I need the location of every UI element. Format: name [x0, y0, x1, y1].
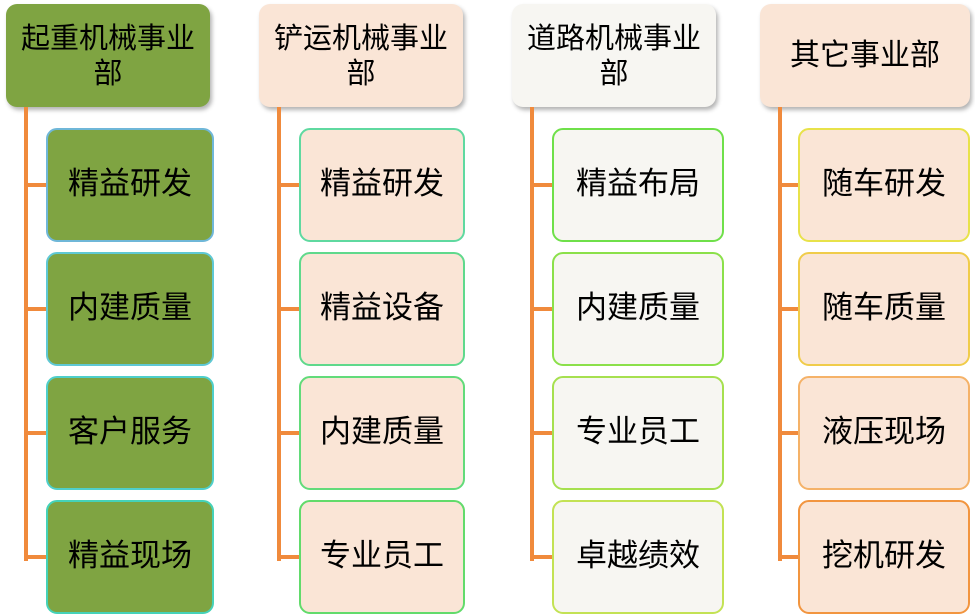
- initiative-node-label: 卓越绩效: [576, 539, 700, 575]
- initiative-node-label: 随车质量: [822, 291, 946, 327]
- org-chart-diagram: 起重机械事业部精益研发内建质量客户服务精益现场铲运机械事业部精益研发精益设备内建…: [0, 0, 975, 609]
- department-header-4[interactable]: 其它事业部: [760, 4, 970, 107]
- initiative-node-3-4[interactable]: 卓越绩效: [552, 500, 724, 614]
- department-header-label: 起重机械事业部: [12, 21, 204, 89]
- department-header-label: 其它事业部: [790, 38, 940, 73]
- connector-branch-1-3: [24, 431, 48, 435]
- initiative-node-label: 精益设备: [320, 291, 444, 327]
- initiative-node-label: 液压现场: [822, 415, 946, 451]
- connector-branch-2-4: [277, 555, 301, 559]
- initiative-node-label: 内建质量: [68, 291, 192, 327]
- org-column-1: 起重机械事业部精益研发内建质量客户服务精益现场: [6, 0, 214, 609]
- connector-branch-3-3: [530, 431, 554, 435]
- department-header-3[interactable]: 道路机械事业部: [512, 4, 716, 107]
- initiative-node-4-2[interactable]: 随车质量: [798, 252, 970, 366]
- connector-trunk-2: [277, 107, 281, 561]
- initiative-node-4-3[interactable]: 液压现场: [798, 376, 970, 490]
- initiative-node-label: 精益现场: [68, 539, 192, 575]
- connector-branch-2-2: [277, 307, 301, 311]
- connector-trunk-1: [24, 107, 28, 561]
- initiative-node-3-1[interactable]: 精益布局: [552, 128, 724, 242]
- connector-branch-4-3: [778, 431, 800, 435]
- connector-branch-1-2: [24, 307, 48, 311]
- connector-branch-3-2: [530, 307, 554, 311]
- department-header-label: 铲运机械事业部: [265, 21, 457, 89]
- initiative-node-3-2[interactable]: 内建质量: [552, 252, 724, 366]
- connector-branch-4-4: [778, 555, 800, 559]
- initiative-node-2-3[interactable]: 内建质量: [299, 376, 465, 490]
- connector-branch-1-4: [24, 555, 48, 559]
- connector-branch-4-1: [778, 183, 800, 187]
- initiative-node-4-1[interactable]: 随车研发: [798, 128, 970, 242]
- initiative-node-1-3[interactable]: 客户服务: [46, 376, 214, 490]
- initiative-node-label: 精益研发: [320, 167, 444, 203]
- connector-branch-2-3: [277, 431, 301, 435]
- connector-trunk-4: [778, 107, 782, 561]
- initiative-node-3-3[interactable]: 专业员工: [552, 376, 724, 490]
- initiative-node-1-4[interactable]: 精益现场: [46, 500, 214, 614]
- connector-branch-1-1: [24, 183, 48, 187]
- initiative-node-label: 精益布局: [576, 167, 700, 203]
- connector-branch-4-2: [778, 307, 800, 311]
- initiative-node-2-4[interactable]: 专业员工: [299, 500, 465, 614]
- initiative-node-label: 内建质量: [320, 415, 444, 451]
- department-header-1[interactable]: 起重机械事业部: [6, 4, 210, 107]
- initiative-node-label: 内建质量: [576, 291, 700, 327]
- connector-branch-3-4: [530, 555, 554, 559]
- org-column-2: 铲运机械事业部精益研发精益设备内建质量专业员工: [259, 0, 465, 609]
- connector-branch-3-1: [530, 183, 554, 187]
- org-column-3: 道路机械事业部精益布局内建质量专业员工卓越绩效: [512, 0, 724, 609]
- initiative-node-2-2[interactable]: 精益设备: [299, 252, 465, 366]
- initiative-node-1-1[interactable]: 精益研发: [46, 128, 214, 242]
- initiative-node-4-4[interactable]: 挖机研发: [798, 500, 970, 614]
- initiative-node-label: 精益研发: [68, 167, 192, 203]
- connector-branch-2-1: [277, 183, 301, 187]
- initiative-node-label: 专业员工: [576, 415, 700, 451]
- initiative-node-2-1[interactable]: 精益研发: [299, 128, 465, 242]
- initiative-node-label: 随车研发: [822, 167, 946, 203]
- initiative-node-label: 挖机研发: [822, 539, 946, 575]
- department-header-2[interactable]: 铲运机械事业部: [259, 4, 463, 107]
- initiative-node-label: 专业员工: [320, 539, 444, 575]
- initiative-node-label: 客户服务: [68, 415, 192, 451]
- connector-trunk-3: [530, 107, 534, 561]
- initiative-node-1-2[interactable]: 内建质量: [46, 252, 214, 366]
- org-column-4: 其它事业部随车研发随车质量液压现场挖机研发: [760, 0, 970, 609]
- department-header-label: 道路机械事业部: [518, 21, 710, 89]
